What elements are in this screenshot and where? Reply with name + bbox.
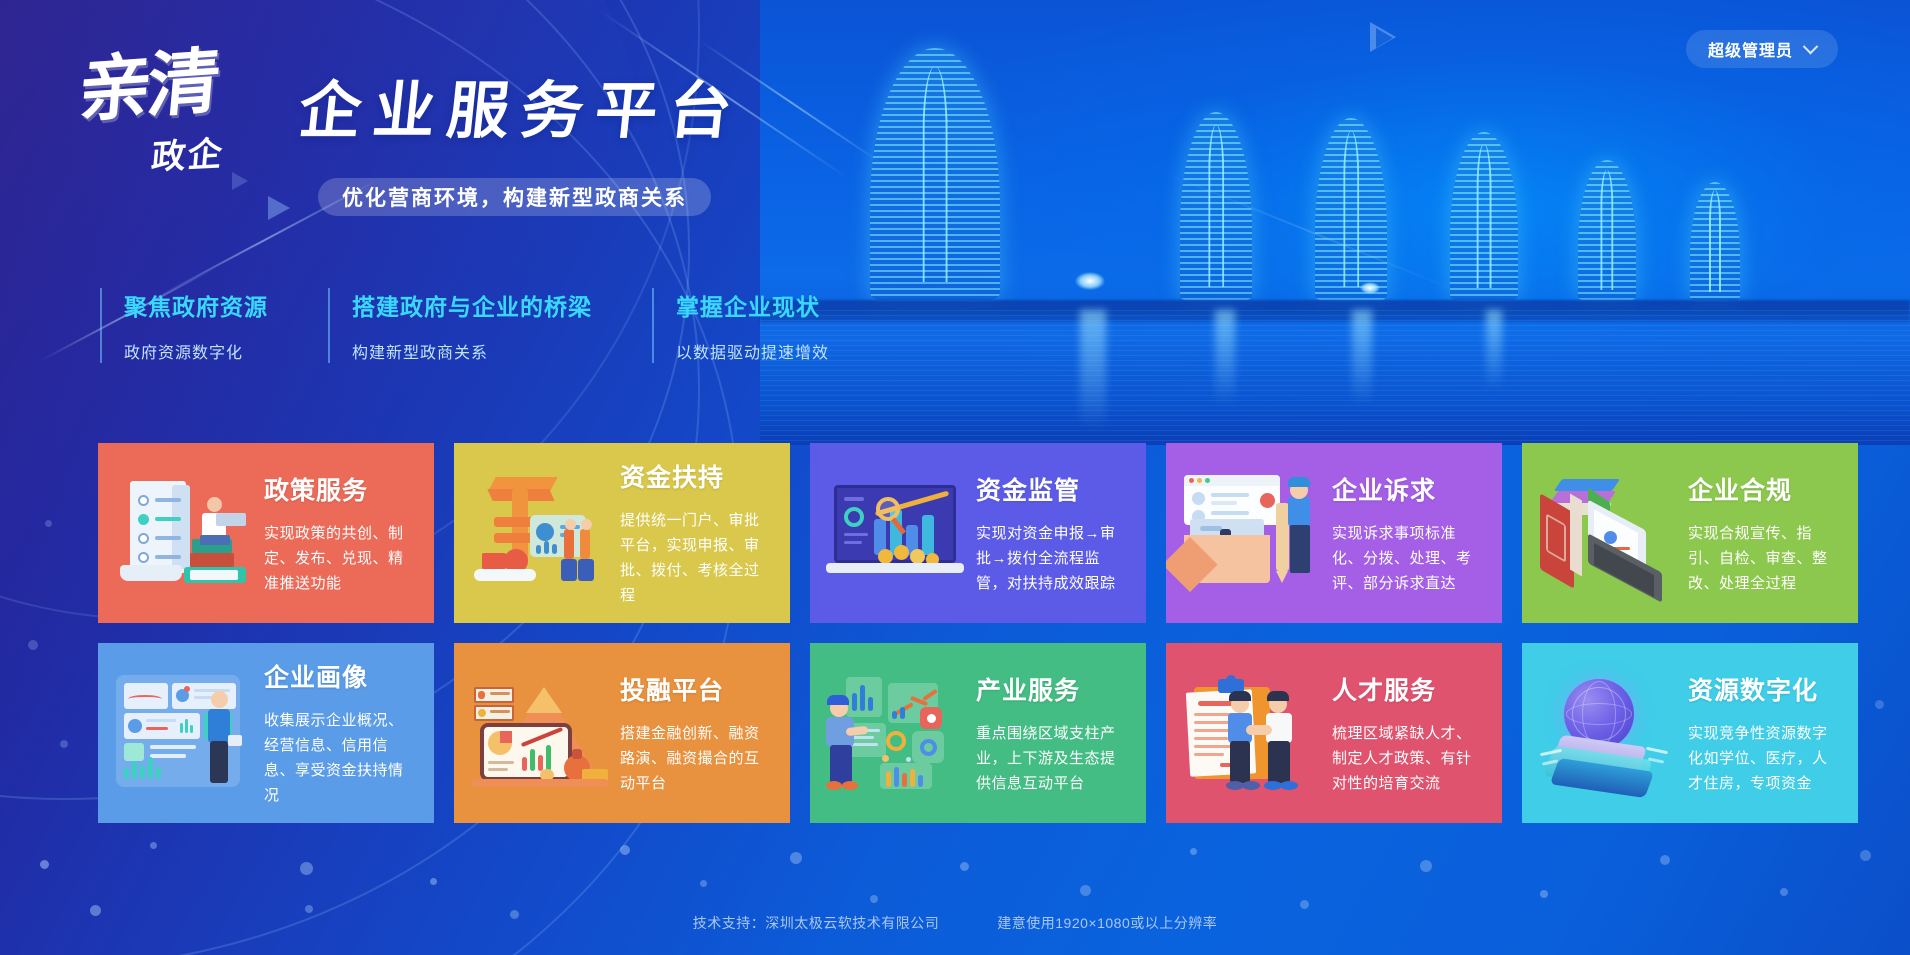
chevron-down-icon[interactable] <box>1803 38 1819 54</box>
card-title: 投融平台 <box>620 671 768 707</box>
brand-calligraphy-sub: 政企 <box>150 126 227 179</box>
card-title: 企业诉求 <box>1332 471 1480 507</box>
laptop-chart-icon <box>824 473 970 593</box>
arrow-decoration-icon-2 <box>232 172 248 190</box>
footer-resolution-text: 建意使用1920×1080或以上分辨率 <box>997 913 1217 933</box>
card-description: 实现竞争性资源数字化如学位、医疗，人才住房，专项资金 <box>1688 721 1836 796</box>
chart-pyramid-icon <box>468 673 614 793</box>
dashboard-profile-icon <box>112 673 258 793</box>
play-triangle-icon-inner <box>1376 28 1393 48</box>
card-enterprise-compliance[interactable]: 企业合规 实现合规宣传、指引、自检、审查、整改、处理全过程 <box>1522 443 1858 623</box>
card-talent-service[interactable]: 人才服务 梳理区域紧缺人才、制定人才政策、有针对性的培育交流 <box>1166 643 1502 823</box>
envelope-pen-icon <box>1180 473 1326 593</box>
brand-block: 亲清 政企 企业服务平台 优化营商环境，构建新型政商关系 <box>0 0 1000 230</box>
background-sea <box>760 310 1910 445</box>
card-description: 实现合规宣传、指引、自检、审查、整改、处理全过程 <box>1688 521 1836 596</box>
card-description: 实现诉求事项标准化、分拨、处理、考评、部分诉求直达 <box>1332 521 1480 596</box>
slogan-pill: 优化营商环境，构建新型政商关系 <box>318 178 711 216</box>
card-description: 实现对资金申报→审批→拨付全流程监管，对扶持成效跟踪 <box>976 521 1124 596</box>
card-resource-digitalization[interactable]: 资源数字化 实现竞争性资源数字化如学位、医疗，人才住房，专项资金 <box>1522 643 1858 823</box>
card-description: 提供统一门户、审批平台，实现申报、审批、拨付、考核全过程 <box>620 508 768 608</box>
feature-highlights: 聚焦政府资源 政府资源数字化 搭建政府与企业的桥梁 构建新型政商关系 掌握企业现… <box>100 288 889 363</box>
user-role-label: 超级管理员 <box>1708 37 1793 61</box>
feature-column-2: 搭建政府与企业的桥梁 构建新型政商关系 <box>328 288 592 363</box>
card-description: 梳理区域紧缺人才、制定人才政策、有针对性的培育交流 <box>1332 721 1480 796</box>
yuan-coins-icon <box>468 473 614 593</box>
module-card-grid: 政策服务 实现政策的共创、制定、发布、兑现、精准推送功能 <box>98 443 1858 823</box>
card-title: 企业画像 <box>264 658 412 694</box>
feature-title: 搭建政府与企业的桥梁 <box>352 288 592 322</box>
page-title: 企业服务平台 <box>295 60 748 150</box>
card-title: 企业合规 <box>1688 471 1836 507</box>
user-role-badge[interactable]: 超级管理员 <box>1686 30 1838 68</box>
feature-title: 掌握企业现状 <box>676 288 829 322</box>
card-investment-platform[interactable]: 投融平台 搭建金融创新、融资路演、融资撮合的互动平台 <box>454 643 790 823</box>
document-checklist-icon <box>112 473 258 593</box>
footer: 技术支持：深圳太极云软技术有限公司 建意使用1920×1080或以上分辨率 <box>0 913 1910 933</box>
feature-column-3: 掌握企业现状 以数据驱动提速增效 <box>652 288 829 363</box>
card-enterprise-appeal[interactable]: 企业诉求 实现诉求事项标准化、分拨、处理、考评、部分诉求直达 <box>1166 443 1502 623</box>
card-funding-supervision[interactable]: 资金监管 实现对资金申报→审批→拨付全流程监管，对扶持成效跟踪 <box>810 443 1146 623</box>
arrow-decoration-icon <box>268 196 290 220</box>
books-laptop-icon <box>1536 473 1682 593</box>
card-description: 收集展示企业概况、经营信息、信用信息、享受资金扶持情况 <box>264 708 412 808</box>
card-title: 政策服务 <box>264 471 412 507</box>
feature-title: 聚焦政府资源 <box>124 288 268 322</box>
card-title: 资源数字化 <box>1688 671 1836 707</box>
card-industry-service[interactable]: 产业服务 重点围绕区域支柱产业，上下游及生态提供信息互动平台 <box>810 643 1146 823</box>
card-funding-support[interactable]: 资金扶持 提供统一门户、审批平台，实现申报、审批、拨付、考核全过程 <box>454 443 790 623</box>
card-title: 人才服务 <box>1332 671 1480 707</box>
card-description: 搭建金融创新、融资路演、融资撮合的互动平台 <box>620 721 768 796</box>
feature-subtitle: 政府资源数字化 <box>124 339 268 363</box>
page-root: 超级管理员 亲清 政企 企业服务平台 优化营商环境，构建新型政商关系 聚焦政府资… <box>0 0 1910 955</box>
footer-support-text: 技术支持：深圳太极云软技术有限公司 <box>693 913 940 933</box>
card-title: 资金监管 <box>976 471 1124 507</box>
globe-layers-icon <box>1536 673 1682 793</box>
card-description: 实现政策的共创、制定、发布、兑现、精准推送功能 <box>264 521 412 596</box>
card-enterprise-profile[interactable]: 企业画像 收集展示企业概况、经营信息、信用信息、享受资金扶持情况 <box>98 643 434 823</box>
card-title: 产业服务 <box>976 671 1124 707</box>
feature-column-1: 聚焦政府资源 政府资源数字化 <box>100 288 268 363</box>
card-title: 资金扶持 <box>620 458 768 494</box>
feature-subtitle: 以数据驱动提速增效 <box>676 339 829 363</box>
card-description: 重点围绕区域支柱产业，上下游及生态提供信息互动平台 <box>976 721 1124 796</box>
handshake-clipboard-icon <box>1180 673 1326 793</box>
feature-subtitle: 构建新型政商关系 <box>352 339 592 363</box>
analytics-presenter-icon <box>824 673 970 793</box>
card-policy-service[interactable]: 政策服务 实现政策的共创、制定、发布、兑现、精准推送功能 <box>98 443 434 623</box>
